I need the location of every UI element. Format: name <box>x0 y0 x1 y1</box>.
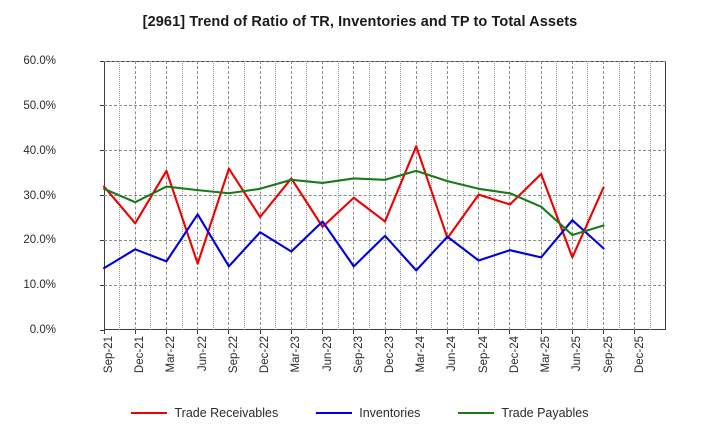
series-line-inventories <box>104 214 604 270</box>
chart-container: [2961] Trend of Ratio of TR, Inventories… <box>0 0 720 440</box>
legend-line-icon <box>316 412 352 414</box>
series-lines-layer <box>0 0 720 440</box>
legend-line-icon <box>131 412 167 414</box>
legend-item[interactable]: Inventories <box>316 406 420 420</box>
chart-legend: Trade ReceivablesInventoriesTrade Payabl… <box>0 406 720 420</box>
legend-label: Inventories <box>359 406 420 420</box>
series-line-trade-receivables <box>104 146 604 263</box>
legend-label: Trade Receivables <box>174 406 278 420</box>
legend-line-icon <box>458 412 494 414</box>
legend-item[interactable]: Trade Receivables <box>131 406 278 420</box>
legend-item[interactable]: Trade Payables <box>458 406 588 420</box>
legend-label: Trade Payables <box>501 406 588 420</box>
series-line-trade-payables <box>104 171 604 235</box>
